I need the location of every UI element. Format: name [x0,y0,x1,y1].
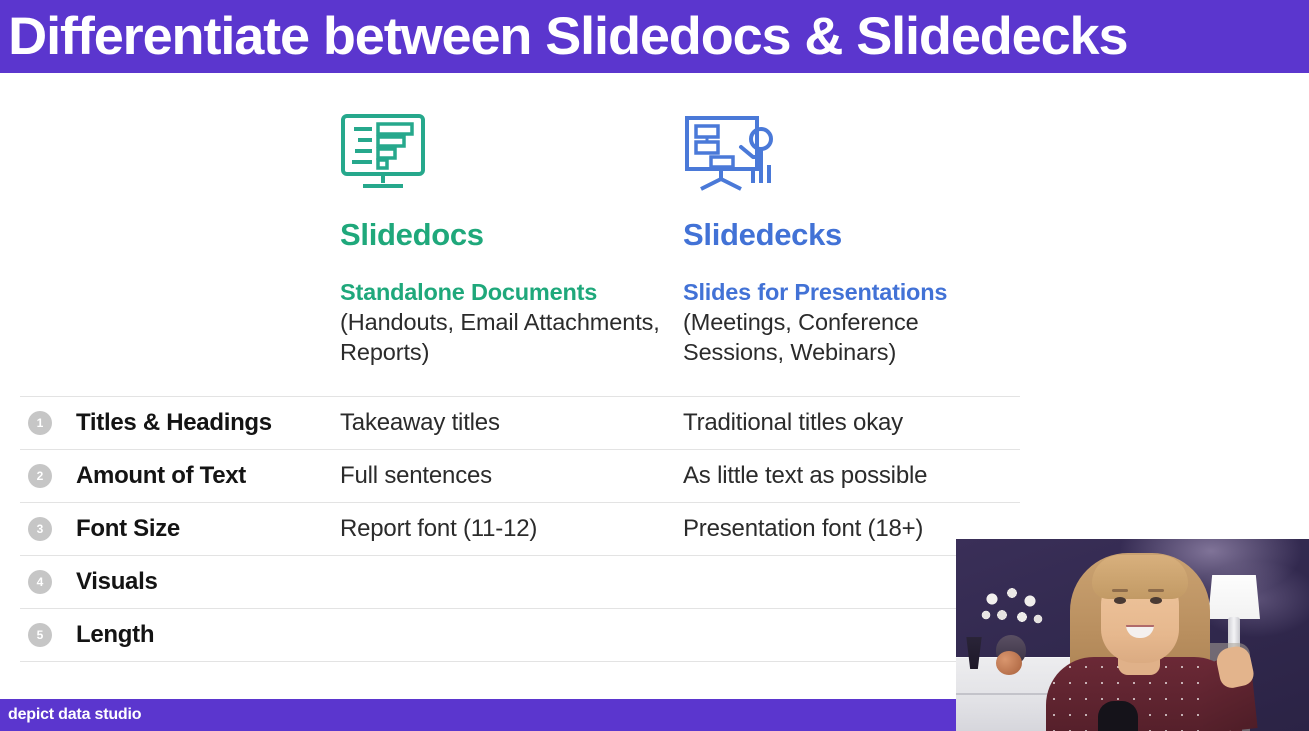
row-label: Length [76,621,154,649]
row-number-badge: 2 [28,464,52,488]
column-title-slidedecks: Slidedecks [683,219,1023,250]
table-row: 2 Amount of Text Full sentences As littl… [20,449,1020,502]
column-headers-region: Slidedocs Standalone Documents (Handouts… [0,73,1309,388]
column-slidedecks: Slidedecks Slides for Presentations (Mee… [683,73,1023,367]
slide-title-bar: Differentiate between Slidedocs & Slided… [0,0,1309,73]
column-slidedocs: Slidedocs Standalone Documents (Handouts… [340,73,680,367]
row-number-badge: 5 [28,623,52,647]
video-lamp-shade [1208,575,1260,619]
video-copper-ornament [996,651,1022,675]
monitor-document-icon [340,73,680,191]
video-microphone [1098,701,1138,731]
column-title-slidedocs: Slidedocs [340,219,680,250]
row-value-slidedocs: Report font (11-12) [340,515,537,543]
row-value-slidedecks: Traditional titles okay [683,409,903,437]
row-label: Font Size [76,515,180,543]
column-subtitle-slidedecks: Slides for Presentations [683,277,1023,307]
column-subtitle-slidedocs: Standalone Documents [340,277,680,307]
row-value-slidedecks: Presentation font (18+) [683,515,923,543]
table-row: 5 Length [20,608,1020,662]
comparison-table: 1 Titles & Headings Takeaway titles Trad… [20,396,1020,662]
row-label: Amount of Text [76,462,246,490]
table-row: 4 Visuals [20,555,1020,608]
video-presenter-eye-left [1114,597,1126,604]
row-number-badge: 1 [28,411,52,435]
row-value-slidedocs: Full sentences [340,462,492,490]
video-presenter-eyebrow-right [1148,589,1164,592]
video-presenter-eyebrow-left [1112,589,1128,592]
presenter-video-overlay[interactable] [956,539,1309,731]
row-number-badge: 4 [28,570,52,594]
row-value-slidedecks: As little text as possible [683,462,927,490]
row-label: Titles & Headings [76,409,272,437]
video-presenter-bangs [1092,555,1188,599]
table-row: 1 Titles & Headings Takeaway titles Trad… [20,396,1020,449]
presenter-whiteboard-icon [683,73,1023,191]
column-examples-slidedocs: (Handouts, Email Attachments, Reports) [340,307,660,367]
brand-name: depict data studio [0,707,141,723]
row-label: Visuals [76,568,158,596]
video-presenter-eye-right [1150,597,1162,604]
row-value-slidedocs: Takeaway titles [340,409,500,437]
row-number-badge: 3 [28,517,52,541]
column-examples-slidedecks: (Meetings, Conference Sessions, Webinars… [683,307,1003,367]
slide-title: Differentiate between Slidedocs & Slided… [0,10,1127,63]
table-row: 3 Font Size Report font (11-12) Presenta… [20,502,1020,555]
